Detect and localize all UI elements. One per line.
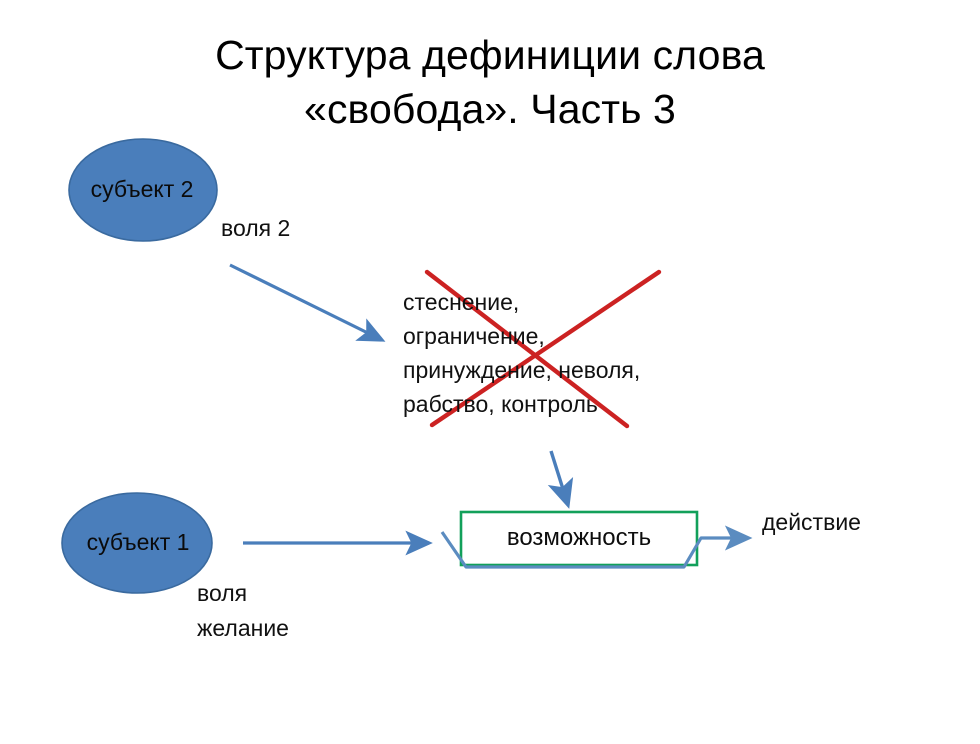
- page-title: Структура дефиниции слова «свобода». Час…: [60, 28, 920, 136]
- negatives-line-3: принуждение, неволя,: [403, 353, 733, 387]
- caption-wish: желание: [197, 615, 289, 642]
- caption-action: действие: [762, 509, 861, 536]
- subject1-label: субъект 1: [58, 529, 218, 556]
- caption-will-2: воля 2: [221, 215, 290, 242]
- page-title-line-2: «свобода». Часть 3: [60, 82, 920, 136]
- negatives-line-2: ограничение,: [403, 319, 733, 353]
- slide-canvas: Структура дефиниции слова «свобода». Час…: [0, 0, 980, 744]
- negatives-line-4: рабство, контроль: [403, 387, 733, 421]
- diagram-text-layer: Структура дефиниции слова «свобода». Час…: [0, 0, 980, 744]
- negatives-list: стеснение, ограничение, принуждение, нев…: [403, 285, 733, 421]
- caption-will: воля: [197, 580, 247, 607]
- negatives-line-1: стеснение,: [403, 285, 733, 319]
- possibility-label: возможность: [461, 524, 697, 552]
- page-title-line-1: Структура дефиниции слова: [60, 28, 920, 82]
- subject2-label: субъект 2: [62, 176, 222, 203]
